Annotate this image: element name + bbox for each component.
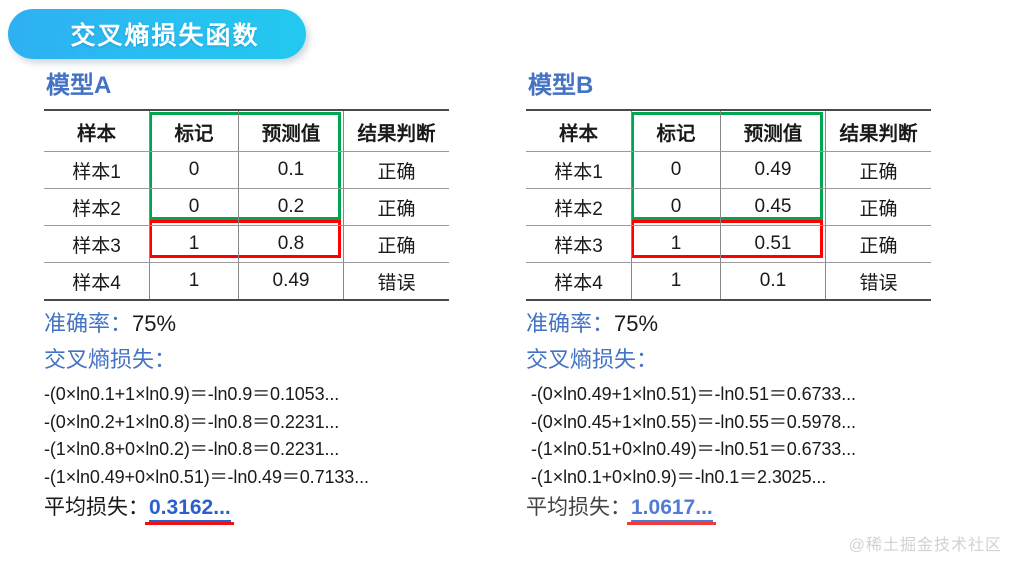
table-row: 样本3 1 0.51 正确 [526,226,931,263]
average-loss-value: 0.3162... [149,496,231,522]
loss-heading: 交叉熵损失： [526,343,946,377]
average-loss-label: 平均损失： [526,496,631,519]
accuracy-label: 准确率： [44,311,132,336]
cell-pred: 0.1 [721,263,826,301]
cell-pred: 0.51 [721,226,826,263]
accuracy-value: 75% [132,311,176,336]
cell-pred: 0.8 [239,226,344,263]
column-header-pred: 预测值 [239,110,344,152]
cell-label: 0 [150,189,239,226]
formula-line: -(1×ln0.1+0×ln0.9)＝-ln0.1＝2.3025... [526,464,946,492]
model-b-table: 样本 标记 预测值 结果判断 样本1 0 0.49 正确 样本2 0 0.45 … [526,109,931,301]
watermark: @稀土掘金技术社区 [849,531,1002,555]
table-row: 样本1 0 0.49 正确 [526,152,931,189]
column-header-label: 标记 [150,110,239,152]
accuracy-line: 准确率：75% [526,307,946,341]
average-loss-line: 平均损失：1.0617... [526,492,946,523]
title-banner: 交叉熵损失函数 [8,9,306,59]
average-loss-line: 平均损失：0.3162... [44,492,464,523]
cell-label: 1 [150,226,239,263]
formula-list: -(0×ln0.49+1×ln0.51)＝-ln0.51＝0.6733... -… [526,381,946,491]
cell-result: 正确 [826,152,932,189]
cell-label: 0 [632,152,721,189]
formula-line: -(0×ln0.49+1×ln0.51)＝-ln0.51＝0.6733... [526,381,946,409]
model-a-heading: 模型A [46,72,464,100]
model-a-panel: 模型A 样本 标记 预测值 结果判断 样本1 0 0.1 正确 样本2 0 0.… [44,72,464,523]
formula-list: -(0×ln0.1+1×ln0.9)＝-ln0.9＝0.1053... -(0×… [44,381,464,491]
cell-label: 1 [632,226,721,263]
table-row: 样本2 0 0.45 正确 [526,189,931,226]
accuracy-label: 准确率： [526,311,614,336]
cell-result: 正确 [344,226,450,263]
cell-pred: 0.45 [721,189,826,226]
formula-line: -(0×ln0.45+1×ln0.55)＝-ln0.55＝0.5978... [526,409,946,437]
column-header-sample: 样本 [526,110,632,152]
cell-sample: 样本1 [526,152,632,189]
cell-label: 1 [150,263,239,301]
cell-sample: 样本2 [526,189,632,226]
banner-title: 交叉熵损失函数 [44,16,269,52]
average-loss-label: 平均损失： [44,496,149,519]
average-loss-value: 1.0617... [631,496,713,522]
cell-pred: 0.2 [239,189,344,226]
cell-result: 正确 [344,189,450,226]
cell-sample: 样本4 [44,263,150,301]
cell-result: 错误 [344,263,450,301]
cell-sample: 样本2 [44,189,150,226]
cell-label: 1 [632,263,721,301]
accuracy-line: 准确率：75% [44,307,464,341]
cell-result: 错误 [826,263,932,301]
column-header-sample: 样本 [44,110,150,152]
cell-pred: 0.49 [721,152,826,189]
cell-pred: 0.1 [239,152,344,189]
column-header-pred: 预测值 [721,110,826,152]
formula-line: -(0×ln0.2+1×ln0.8)＝-ln0.8＝0.2231... [44,409,464,437]
cell-sample: 样本1 [44,152,150,189]
table-row: 样本4 1 0.1 错误 [526,263,931,301]
table-header-row: 样本 标记 预测值 结果判断 [526,110,931,152]
cell-result: 正确 [344,152,450,189]
table-header-row: 样本 标记 预测值 结果判断 [44,110,449,152]
formula-line: -(0×ln0.1+1×ln0.9)＝-ln0.9＝0.1053... [44,381,464,409]
formula-line: -(1×ln0.8+0×ln0.2)＝-ln0.8＝0.2231... [44,436,464,464]
model-b-heading: 模型B [528,72,946,100]
table-row: 样本4 1 0.49 错误 [44,263,449,301]
cell-label: 0 [632,189,721,226]
table-row: 样本2 0 0.2 正确 [44,189,449,226]
cell-pred: 0.49 [239,263,344,301]
cell-sample: 样本3 [44,226,150,263]
cell-label: 0 [150,152,239,189]
table-row: 样本1 0 0.1 正确 [44,152,449,189]
cell-sample: 样本4 [526,263,632,301]
cell-result: 正确 [826,226,932,263]
cell-sample: 样本3 [526,226,632,263]
column-header-result: 结果判断 [344,110,450,152]
column-header-label: 标记 [632,110,721,152]
model-b-panel: 模型B 样本 标记 预测值 结果判断 样本1 0 0.49 正确 样本2 0 0… [526,72,946,523]
formula-line: -(1×ln0.51+0×ln0.49)＝-ln0.51＝0.6733... [526,436,946,464]
formula-line: -(1×ln0.49+0×ln0.51)＝-ln0.49＝0.7133... [44,464,464,492]
cell-result: 正确 [826,189,932,226]
model-a-table: 样本 标记 预测值 结果判断 样本1 0 0.1 正确 样本2 0 0.2 正确… [44,109,449,301]
accuracy-value: 75% [614,311,658,336]
table-row: 样本3 1 0.8 正确 [44,226,449,263]
column-header-result: 结果判断 [826,110,932,152]
loss-heading: 交叉熵损失： [44,343,464,377]
